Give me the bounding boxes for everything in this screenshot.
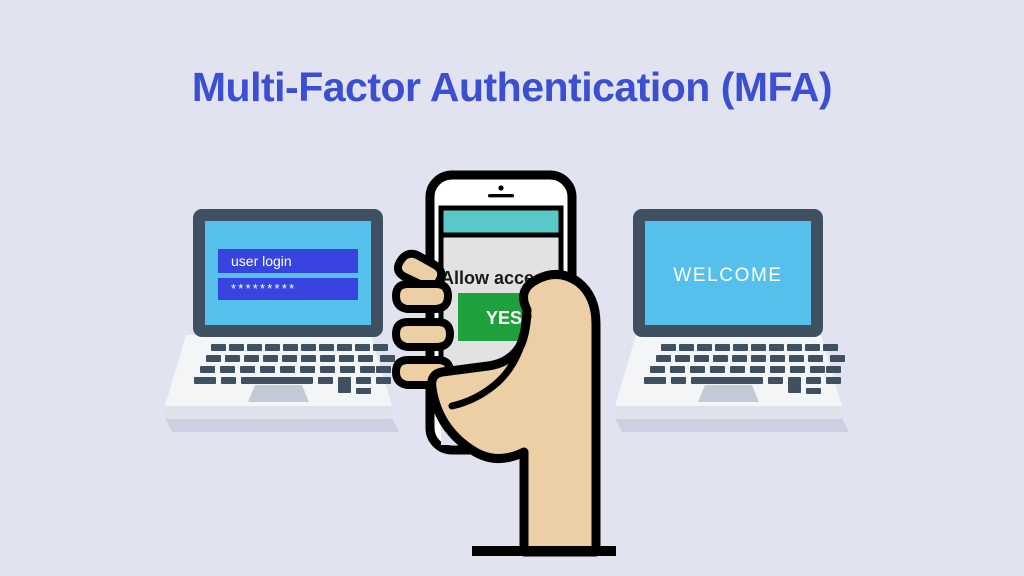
username-value: user login (231, 253, 292, 269)
laptop-right-base-edge (615, 405, 842, 419)
phone-speaker-icon (488, 194, 514, 197)
password-value: ********* (231, 281, 296, 296)
hand-finger-middle (396, 284, 448, 309)
approve-button-label: YES (486, 308, 522, 328)
laptop-right-trackpad (698, 385, 759, 402)
mfa-illustration: user login ********* (0, 0, 1024, 576)
hand-wrist-base (472, 546, 616, 556)
welcome-text: WELCOME (673, 265, 782, 286)
hand-finger-ring (396, 322, 450, 347)
laptop-left-base-shadow (165, 418, 399, 432)
laptop-left-base-edge (165, 405, 392, 419)
laptop-right-base-shadow (615, 418, 849, 432)
laptop-left-trackpad (248, 385, 309, 402)
phone-camera-icon (498, 185, 503, 190)
laptop-right: WELCOME (615, 209, 849, 432)
phone-status-bar (444, 211, 559, 234)
laptop-left: user login ********* (165, 209, 399, 432)
illustration-canvas: Multi-Factor Authentication (MFA) (0, 0, 1024, 576)
